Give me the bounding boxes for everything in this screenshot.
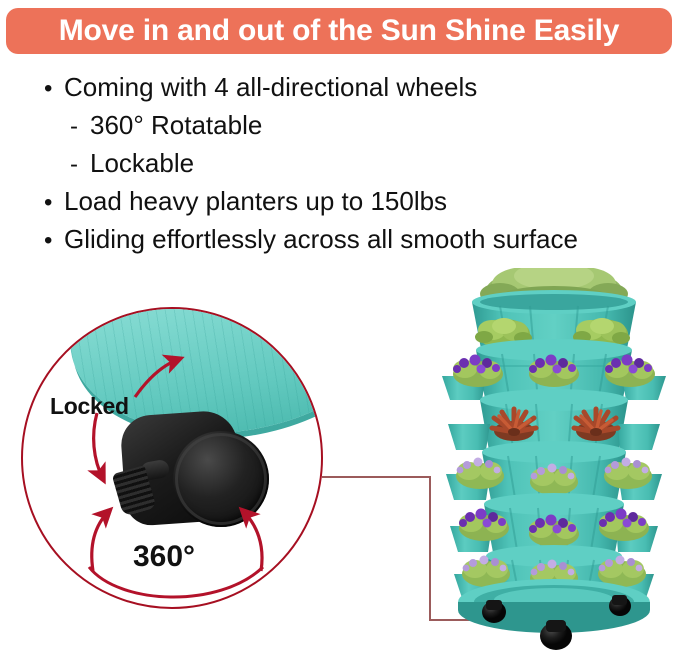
header-banner: Move in and out of the Sun Shine Easily [6, 8, 672, 54]
feature-list: • Coming with 4 all-directional wheels -… [44, 72, 674, 262]
feature-item: • Load heavy planters up to 150lbs [44, 186, 674, 224]
feature-label: Coming with 4 all-directional wheels [64, 72, 477, 103]
tower-planter-product [430, 268, 679, 654]
feature-label: 360° Rotatable [90, 110, 262, 141]
banner-title: Move in and out of the Sun Shine Easily [59, 14, 620, 48]
rotation-arc-left-icon [92, 511, 109, 571]
locked-label: Locked [50, 393, 129, 420]
locked-up-arrow-icon [135, 359, 179, 397]
bullet-icon: • [44, 191, 64, 215]
dash-icon: - [70, 115, 90, 139]
bullet-icon: • [44, 229, 64, 253]
rotation-arc-right-icon [243, 511, 262, 571]
tower-planter-illustration [430, 268, 679, 654]
feature-item: - Lockable [44, 148, 674, 186]
feature-label: Gliding effortlessly across all smooth s… [64, 224, 578, 255]
feature-label: Lockable [90, 148, 194, 179]
bullet-icon: • [44, 77, 64, 101]
feature-item: - 360° Rotatable [44, 110, 674, 148]
feature-item: • Gliding effortlessly across all smooth… [44, 224, 674, 262]
feature-item: • Coming with 4 all-directional wheels [44, 72, 674, 110]
page-root: Move in and out of the Sun Shine Easily … [0, 0, 679, 654]
rotation-degree-label: 360° [133, 540, 195, 574]
feature-label: Load heavy planters up to 150lbs [64, 186, 447, 217]
locked-down-arrow-icon [94, 413, 103, 479]
dash-icon: - [70, 153, 90, 177]
caster-detail-callout: Locked 360° [21, 307, 323, 609]
